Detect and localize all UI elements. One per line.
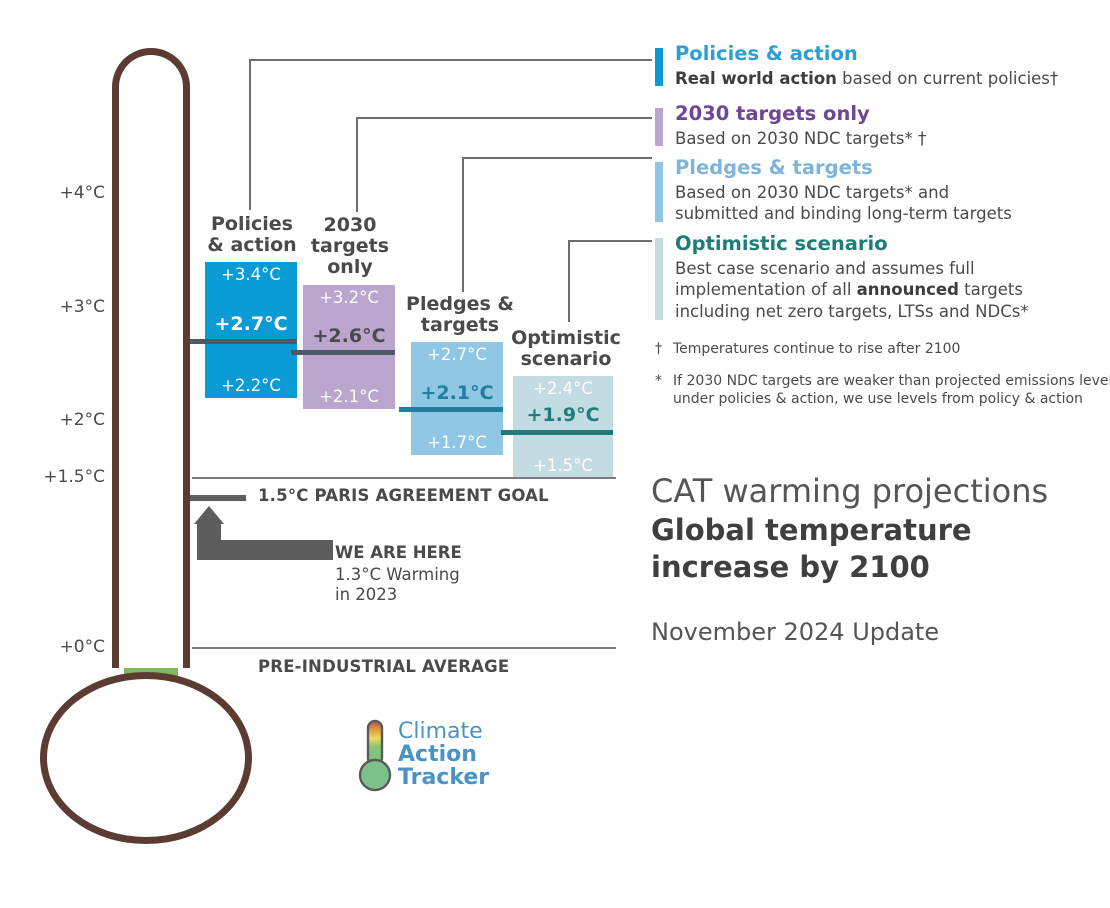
bar-policies: +3.4°C+2.2°C+2.7°C bbox=[205, 262, 297, 398]
connector-horizontal-1 bbox=[356, 117, 652, 119]
we-are-here-arrow bbox=[183, 506, 333, 566]
logo-word-action: Action bbox=[398, 744, 489, 767]
bar-optimistic-low: +1.5°C bbox=[513, 456, 613, 475]
logo-word-climate: Climate bbox=[398, 721, 489, 744]
title-line-2: Global temperature bbox=[651, 513, 972, 548]
logo-thermometer-icon bbox=[358, 718, 392, 794]
thermometer-mercury-gap bbox=[160, 504, 171, 664]
connector-vertical-3 bbox=[568, 240, 570, 322]
legend-heading-0: Policies & action bbox=[675, 42, 858, 65]
footnote-1: *If 2030 NDC targets are weaker than pro… bbox=[655, 372, 1095, 406]
bar-optimistic-title: Optimisticscenario bbox=[508, 328, 624, 371]
bar-policies-title-line-1: Policies bbox=[198, 214, 306, 235]
legend-heading-1: 2030 targets only bbox=[675, 102, 870, 125]
footnote-text-1: If 2030 NDC targets are weaker than proj… bbox=[673, 372, 1110, 408]
thermometer-bulb: Global mean temperature increase by 2100 bbox=[40, 672, 252, 844]
legend-heading-2: Pledges & targets bbox=[675, 156, 873, 179]
bar-optimistic-high: +2.4°C bbox=[513, 379, 613, 398]
bar-pledges-median-line bbox=[399, 407, 503, 412]
bar-targets2030-title-line-1: 2030 bbox=[296, 215, 404, 236]
legend-item-1[interactable]: 2030 targets onlyBased on 2030 NDC targe… bbox=[655, 106, 1095, 144]
bar-targets2030-median-line bbox=[291, 350, 395, 355]
bar-targets2030-title: 2030targetsonly bbox=[296, 215, 404, 279]
bar-targets2030-title-line-3: only bbox=[296, 257, 404, 278]
footnote-text-0: Temperatures continue to rise after 2100 bbox=[673, 340, 960, 358]
we-are-here-line-2: in 2023 bbox=[335, 585, 460, 605]
logo-wordmark: Climate Action Tracker bbox=[398, 721, 489, 790]
legend-body-0: Real world action based on current polic… bbox=[675, 68, 1058, 89]
connector-vertical-2 bbox=[462, 157, 464, 292]
bar-optimistic: +2.4°C+1.5°C+1.9°C bbox=[513, 376, 613, 478]
bar-pledges-low: +1.7°C bbox=[411, 433, 503, 452]
legend-item-2[interactable]: Pledges & targetsBased on 2030 NDC targe… bbox=[655, 160, 1095, 220]
legend-swatch-3 bbox=[655, 238, 663, 320]
bar-policies-high: +3.4°C bbox=[205, 265, 297, 284]
bar-targets2030-median: +2.6°C bbox=[303, 325, 395, 347]
axis-label-4: +0°C bbox=[0, 637, 105, 657]
bar-optimistic-median: +1.9°C bbox=[513, 404, 613, 426]
bar-policies-low: +2.2°C bbox=[205, 376, 297, 395]
bar-pledges: +2.7°C+1.7°C+2.1°C bbox=[411, 342, 503, 455]
legend-item-0[interactable]: Policies & actionReal world action based… bbox=[655, 46, 1095, 84]
axis-label-3: +1.5°C bbox=[0, 467, 105, 487]
bulb-label-line-1: Global mean bbox=[88, 718, 204, 737]
footnote-0: †Temperatures continue to rise after 210… bbox=[655, 340, 1095, 374]
bulb-label-line-4: by 2100 bbox=[109, 779, 183, 798]
cat-logo: Climate Action Tracker bbox=[350, 718, 500, 798]
bar-targets2030-low: +2.1°C bbox=[303, 387, 395, 406]
legend-swatch-0 bbox=[655, 48, 663, 86]
legend-item-3[interactable]: Optimistic scenarioBest case scenario an… bbox=[655, 236, 1095, 318]
legend-swatch-2 bbox=[655, 162, 663, 222]
we-are-here-line-1: 1.3°C Warming bbox=[335, 565, 460, 585]
footnote-marker-0: † bbox=[655, 340, 662, 358]
bar-targets2030-title-line-2: targets bbox=[296, 236, 404, 257]
title-line-1: CAT warming projections bbox=[651, 472, 1048, 510]
bar-targets2030: +3.2°C+2.1°C+2.6°C bbox=[303, 285, 395, 410]
bulb-label: Global mean temperature increase by 2100 bbox=[40, 672, 252, 844]
bar-policies-title-line-2: & action bbox=[198, 235, 306, 256]
legend-body-2: Based on 2030 NDC targets* andsubmitted … bbox=[675, 182, 1012, 225]
legend-body-1: Based on 2030 NDC targets* † bbox=[675, 128, 926, 149]
paris-goal-label: 1.5°C PARIS AGREEMENT GOAL bbox=[258, 486, 549, 505]
bar-optimistic-median-line bbox=[501, 430, 613, 435]
legend-body-3: Best case scenario and assumes fullimple… bbox=[675, 258, 1029, 322]
title-line-4: November 2024 Update bbox=[651, 618, 939, 646]
title-line-3: increase by 2100 bbox=[651, 550, 930, 585]
infographic-canvas: Global mean temperature increase by 2100… bbox=[0, 0, 1110, 908]
paris-goal-line bbox=[192, 477, 616, 479]
legend-swatch-1 bbox=[655, 108, 663, 146]
axis-label-0: +4°C bbox=[0, 183, 105, 203]
we-are-here-marker bbox=[190, 495, 246, 501]
bar-pledges-title-line-1: Pledges & bbox=[404, 294, 516, 315]
logo-word-tracker: Tracker bbox=[398, 767, 489, 790]
bulb-label-line-3: increase bbox=[107, 759, 186, 778]
legend-heading-3: Optimistic scenario bbox=[675, 232, 888, 255]
connector-horizontal-2 bbox=[462, 157, 652, 159]
bar-pledges-median: +2.1°C bbox=[411, 382, 503, 404]
we-are-here-title: WE ARE HERE bbox=[335, 543, 462, 562]
bar-optimistic-title-line-2: scenario bbox=[508, 349, 624, 370]
bar-optimistic-title-line-1: Optimistic bbox=[508, 328, 624, 349]
connector-horizontal-3 bbox=[568, 240, 652, 242]
bar-pledges-title: Pledges &targets bbox=[404, 294, 516, 337]
bar-targets2030-high: +3.2°C bbox=[303, 288, 395, 307]
preindustrial-line bbox=[192, 647, 616, 649]
bar-policies-title: Policies& action bbox=[198, 214, 306, 257]
bar-pledges-title-line-2: targets bbox=[404, 315, 516, 336]
connector-vertical-1 bbox=[356, 117, 358, 212]
thermometer-outline bbox=[112, 48, 190, 668]
bulb-label-line-2: temperature bbox=[87, 738, 205, 757]
axis-label-2: +2°C bbox=[0, 410, 105, 430]
connector-horizontal-0 bbox=[249, 59, 652, 61]
bar-policies-median: +2.7°C bbox=[205, 313, 297, 335]
axis-label-1: +3°C bbox=[0, 297, 105, 317]
footnote-marker-1: * bbox=[655, 372, 662, 390]
connector-vertical-0 bbox=[249, 59, 251, 210]
bar-pledges-high: +2.7°C bbox=[411, 345, 503, 364]
we-are-here-subtitle: 1.3°C Warming in 2023 bbox=[335, 565, 460, 605]
preindustrial-label: PRE-INDUSTRIAL AVERAGE bbox=[258, 657, 509, 676]
